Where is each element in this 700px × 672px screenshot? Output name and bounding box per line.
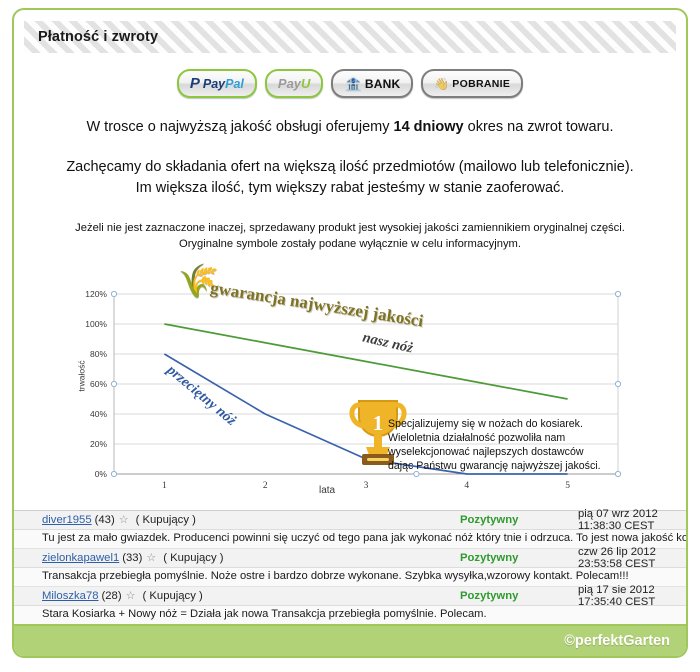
chart-y-tick: 80% [90,349,107,359]
feedback-rating: Pozytywny [460,590,518,602]
chart-y-tick: 0% [95,469,108,479]
badge-pobranie[interactable]: 👋 POBRANIE [421,69,523,98]
feedback-list: diver1955(43)☆( Kupujący )Pozytywnypią 0… [14,510,686,625]
badge-bank[interactable]: 🏦 BANK [331,69,413,98]
star-outline-icon: ☆ [119,513,129,526]
company-note-line-1: Specjalizujemy się w nożach do kosiarek. [388,417,601,431]
chart-x-tick: 2 [263,481,268,491]
chart-y-tick: 100% [85,319,107,329]
feedback-username[interactable]: zielonkapawel1 [42,552,119,564]
chart-y-axis-label: trwałość [77,360,87,391]
returns-policy-text: W trosce o najwyższą jakość obsługi ofer… [14,119,686,135]
pobranie-label: POBRANIE [452,78,510,90]
chart-y-tick: 20% [90,439,107,449]
feedback-rating: Pozytywny [460,552,518,564]
feedback-username[interactable]: Miloszka78 [42,590,99,602]
page-title: Płatność i zwroty [24,29,158,45]
page-root: Płatność i zwroty P PayPal PayU 🏦 BANK 👋… [0,0,700,672]
durability-chart: 0%20%40%60%80%100%120%12345 trwałość lat… [70,267,630,502]
returns-period: 14 dniowy [394,119,464,135]
chart-x-tick: 3 [364,481,369,491]
payment-badges: P PayPal PayU 🏦 BANK 👋 POBRANIE [14,69,686,98]
bulk-line-1: Zachęcamy do składania ofert na większą … [14,157,686,178]
payu-label: PayU [278,76,311,91]
content-card: Płatność i zwroty P PayPal PayU 🏦 BANK 👋… [12,8,688,658]
feedback-row: Miloszka78(28)☆( Kupujący )Pozytywnypią … [14,587,686,606]
chart-x-tick: 4 [464,481,469,491]
feedback-rating-count: (28) [102,590,122,602]
feedback-role: ( Kupujący ) [142,590,202,602]
chart-y-tick: 120% [85,289,107,299]
star-outline-icon: ☆ [126,589,136,602]
feedback-date: pią 07 wrz 2012 11:38:30 CEST [578,508,678,532]
disclaimer-text: Jeżeli nie jest zaznaczone inaczej, sprz… [14,220,686,252]
chart-x-axis-label: lata [319,485,335,496]
bank-label: BANK [365,77,400,91]
footer-bar: ©perfektGarten [14,624,686,656]
feedback-role: ( Kupujący ) [136,514,196,526]
feedback-comment: Stara Kosiarka + Nowy nóż = Działa jak n… [14,606,686,625]
bulk-line-2: Im większa ilość, tym większy rabat jest… [14,178,686,199]
feedback-role: ( Kupujący ) [163,552,223,564]
disclaimer-line-1: Jeżeli nie jest zaznaczone inaczej, sprz… [14,220,686,236]
company-note-line-3: wyselekcjonować najlepszych dostawców [388,445,601,459]
badge-paypal[interactable]: P PayPal [177,69,257,98]
disclaimer-line-2: Oryginalne symbole zostały podane wyłącz… [14,236,686,252]
copyright-label: ©perfektGarten [564,633,670,649]
chart-x-tick: 1 [162,481,167,491]
feedback-date: czw 26 lip 2012 23:53:58 CEST [578,546,678,570]
returns-pre: W trosce o najwyższą jakość obsługi ofer… [86,119,393,135]
chart-x-tick: 5 [565,481,570,491]
chart-y-tick: 40% [90,409,107,419]
feedback-row: zielonkapawel1(33)☆( Kupujący )Pozytywny… [14,549,686,568]
star-outline-icon: ☆ [146,551,156,564]
feedback-date: pią 17 sie 2012 17:35:40 CEST [578,584,678,608]
section-header: Płatność i zwroty [24,21,676,53]
company-note: Specjalizujemy się w nożach do kosiarek.… [388,417,601,474]
bulk-offer-text: Zachęcamy do składania ofert na większą … [14,157,686,199]
company-note-line-4: dając Państwu gwarancję najwyższej jakoś… [388,459,601,473]
feedback-rating: Pozytywny [460,514,518,526]
feedback-rating-count: (33) [122,552,142,564]
feedback-row: diver1955(43)☆( Kupujący )Pozytywnypią 0… [14,511,686,530]
feedback-username[interactable]: diver1955 [42,514,92,526]
company-note-line-2: Wieloletnia działalność pozwoliła nam [388,431,601,445]
chart-y-tick: 60% [90,379,107,389]
badge-payu[interactable]: PayU [265,69,324,98]
bank-icon: 🏦 [344,77,361,91]
feedback-rating-count: (43) [95,514,115,526]
paypal-label: PayPal [203,77,244,91]
returns-post: okres na zwrot towaru. [464,119,614,135]
hand-cash-icon: 👋 [434,78,449,90]
paypal-icon: P [190,76,200,91]
